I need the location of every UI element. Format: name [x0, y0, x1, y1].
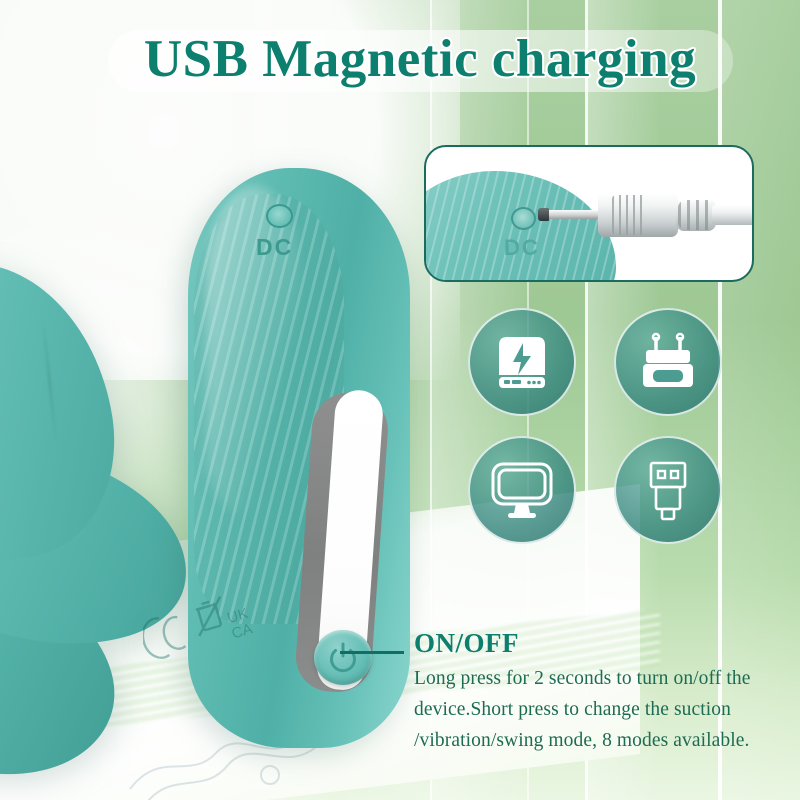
closeup-dc-label: DC [504, 235, 540, 261]
callout-line-3: /vibration/swing mode, 8 modes available… [414, 725, 792, 756]
main-product: DC UK CA [188, 168, 410, 748]
feature-icon-power-bank [468, 308, 576, 416]
feature-icon-wall-adapter [614, 308, 722, 416]
plug-pin [541, 210, 603, 219]
plug-cable [712, 205, 754, 225]
plug-grip-rings [612, 195, 646, 235]
wall-adapter-icon [637, 331, 699, 393]
callout-block: ON/OFF Long press for 2 seconds to turn … [414, 628, 792, 756]
dc-port-label: DC [256, 234, 293, 261]
certification-marks: UK CA [143, 588, 283, 678]
usb-connector-icon [639, 459, 697, 521]
callout-leader-line [340, 651, 404, 654]
callout-line-2: device.Short press to change the suction [414, 694, 792, 725]
feature-icon-grid [468, 308, 724, 560]
power-icon [327, 641, 359, 674]
callout-title: ON/OFF [414, 628, 792, 659]
power-bank-icon [491, 331, 553, 393]
product-infographic: USB Magnetic charging DC DC [0, 0, 800, 800]
plug-pin-tip [538, 208, 549, 221]
closeup-dc-port-icon [511, 207, 536, 230]
callout-description: Long press for 2 seconds to turn on/off … [414, 663, 792, 756]
charging-port-closeup-panel: DC [424, 145, 754, 282]
page-title: USB Magnetic charging [110, 24, 730, 94]
dc-port-icon [266, 204, 293, 228]
feature-icon-computer [468, 436, 576, 544]
callout-line-1: Long press for 2 seconds to turn on/off … [414, 663, 792, 694]
plug-strain-relief-grooves [678, 200, 714, 230]
computer-icon [490, 459, 554, 521]
secondary-product-highlight [0, 271, 35, 531]
feature-icon-usb-connector [614, 436, 722, 544]
power-button[interactable] [314, 630, 372, 685]
